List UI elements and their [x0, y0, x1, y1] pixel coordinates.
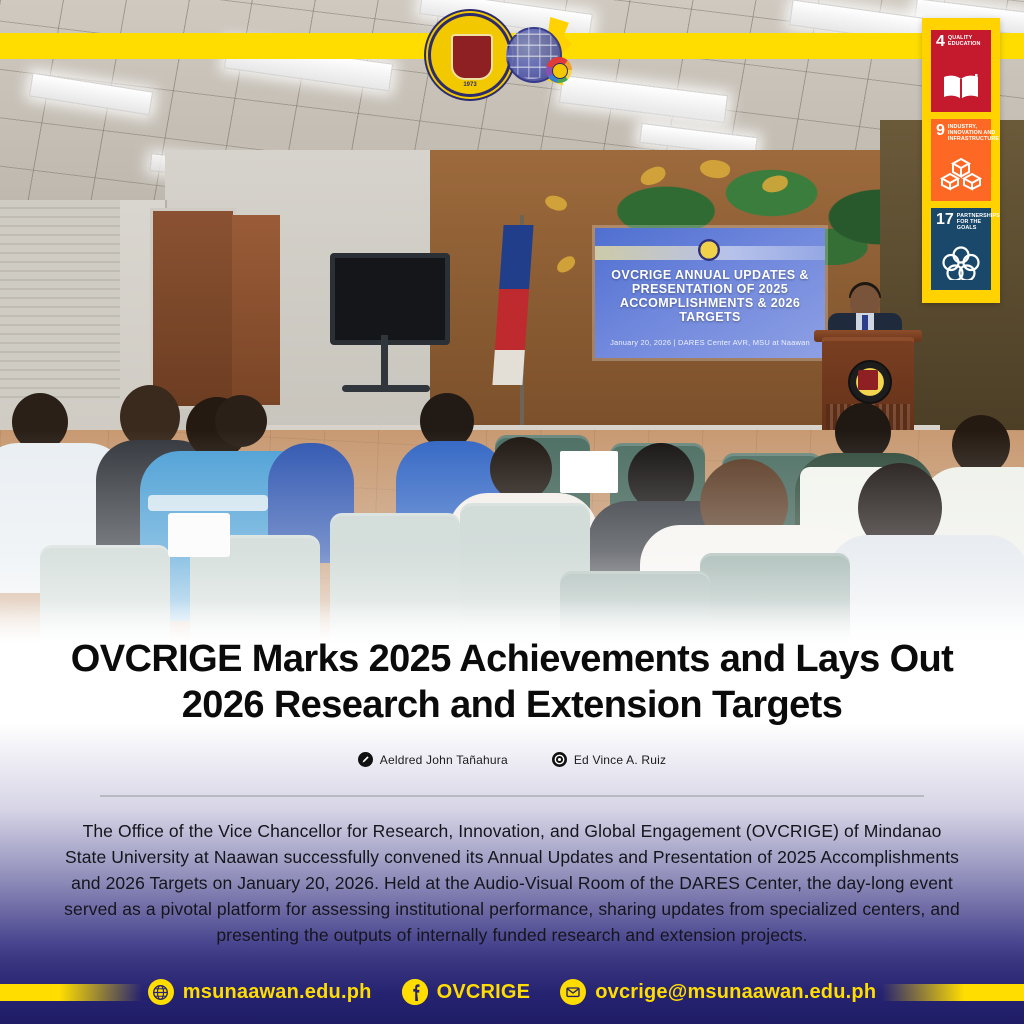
sdg-label: Quality Education	[948, 35, 987, 47]
door	[150, 208, 236, 409]
sdg-number: 4	[936, 35, 945, 48]
logo-group: 1973	[420, 5, 620, 100]
byline-photographer: Ed Vince A. Ruiz	[552, 752, 666, 767]
sdg-badge-rail: 4 Quality Education 9 Industry, Innovati…	[922, 18, 1000, 303]
roller-shutter	[0, 200, 120, 400]
msu-naawan-seal-icon: 1973	[428, 13, 512, 97]
ovcrige-globe-logo-icon	[504, 17, 576, 89]
website-label: msunaawan.edu.ph	[183, 981, 372, 1004]
interlocking-circles-icon	[931, 246, 991, 285]
footer-facebook[interactable]: OVCRIGE	[402, 979, 531, 1005]
footer-dash-right	[882, 984, 1024, 1001]
tv-monitor	[330, 253, 450, 345]
sdg-badge-17: 17 Partnerships for the Goals	[931, 208, 991, 290]
footer-dash-left	[0, 984, 142, 1001]
divider	[100, 795, 924, 797]
tv-stand	[381, 335, 388, 390]
facebook-icon	[402, 979, 428, 1005]
slide-subtitle: January 20, 2026 | DARES Center AVR, MSU…	[603, 338, 817, 347]
news-card: OVCRIGE ANNUAL UPDATES & PRESENTATION OF…	[0, 0, 1024, 1024]
sdg-badge-9: 9 Industry, Innovation and Infrastructur…	[931, 119, 991, 201]
sdg-label: Industry, Innovation and Infrastructure	[948, 124, 999, 143]
sdg-number: 9	[936, 124, 945, 137]
seal-year: 1973	[431, 82, 509, 88]
globe-icon	[148, 979, 174, 1005]
pen-icon	[358, 752, 373, 767]
camera-lens-icon	[552, 752, 567, 767]
cubes-icon	[931, 157, 991, 196]
slide-title: OVCRIGE ANNUAL UPDATES & PRESENTATION OF…	[603, 268, 817, 324]
footer-website[interactable]: msunaawan.edu.ph	[148, 979, 372, 1005]
email-label: ovcrige@msunaawan.edu.ph	[595, 981, 876, 1004]
facebook-label: OVCRIGE	[437, 981, 531, 1004]
article-body: The Office of the Vice Chancellor for Re…	[62, 818, 962, 948]
globe-seal-center	[552, 63, 568, 79]
sdg-badge-4: 4 Quality Education	[931, 30, 991, 112]
seal-crest	[451, 34, 493, 80]
footer-items: msunaawan.edu.ph OVCRIGE	[148, 979, 876, 1005]
open-book-icon	[931, 72, 991, 107]
photographer-name: Ed Vince A. Ruiz	[574, 753, 666, 767]
byline-writer: Aeldred John Tañahura	[358, 752, 508, 767]
page-title: OVCRIGE Marks 2025 Achievements and Lays…	[40, 636, 984, 728]
footer-email[interactable]: ovcrige@msunaawan.edu.ph	[560, 979, 876, 1005]
door	[232, 215, 280, 405]
event-photo: OVCRIGE ANNUAL UPDATES & PRESENTATION OF…	[0, 0, 1024, 700]
slide-seal-icon	[698, 239, 720, 261]
envelope-icon	[560, 979, 586, 1005]
contact-footer: msunaawan.edu.ph OVCRIGE	[0, 960, 1024, 1024]
stripe-fade-left	[230, 33, 350, 59]
sdg-number: 17	[936, 213, 954, 226]
writer-name: Aeldred John Tañahura	[380, 753, 508, 767]
sdg-label: Partnerships for the Goals	[957, 213, 1000, 232]
byline: Aeldred John Tañahura Ed Vince A. Ruiz	[0, 752, 1024, 767]
projector-screen: OVCRIGE ANNUAL UPDATES & PRESENTATION OF…	[595, 228, 825, 358]
